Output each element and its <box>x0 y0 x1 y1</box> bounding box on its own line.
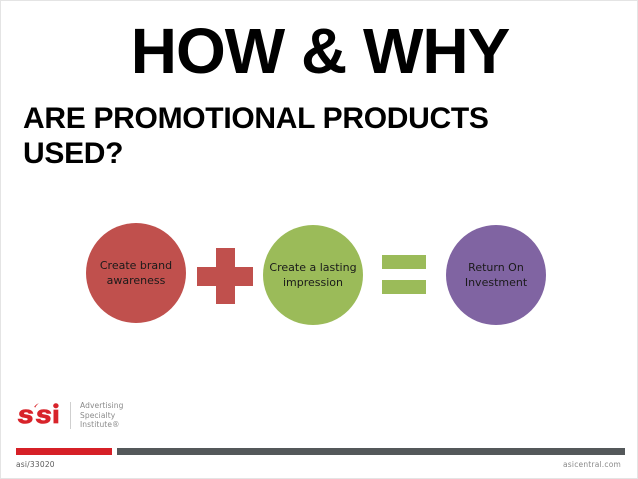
logo-word-line-3: Institute® <box>80 420 124 430</box>
asi-logo-lockup: Advertising Specialty Institute® <box>16 401 124 430</box>
equation-row: Create brand awareness Create a lasting … <box>1 223 638 335</box>
asi-member-number: asi/33020 <box>16 460 55 469</box>
logo-word-line-1: Advertising <box>80 401 124 411</box>
footer-accent-bar-gray <box>117 448 625 455</box>
circle-label: Create brand awareness <box>92 258 180 288</box>
equals-icon-bottom-bar <box>382 280 426 294</box>
slide-footer: Advertising Specialty Institute® EVERY S… <box>1 393 638 479</box>
circle-return-on-investment: Return On Investment <box>446 225 546 325</box>
circle-label: Return On Investment <box>452 260 540 290</box>
page-title: HOW & WHY <box>1 19 638 83</box>
circle-create-brand-awareness: Create brand awareness <box>86 223 186 323</box>
footer-accent-bar-red <box>16 448 112 455</box>
plus-icon-vertical-bar <box>216 248 235 304</box>
logo-word-line-2: Specialty <box>80 411 124 421</box>
logo-divider <box>70 402 71 429</box>
plus-icon <box>197 248 253 304</box>
footer-website: asicentral.com <box>563 460 621 469</box>
circle-label: Create a lasting impression <box>269 260 357 290</box>
equals-icon <box>382 255 426 297</box>
equals-icon-top-bar <box>382 255 426 269</box>
circle-create-lasting-impression: Create a lasting impression <box>263 225 363 325</box>
headline-block: HOW & WHY <box>1 19 638 83</box>
asi-logo-icon <box>16 402 62 428</box>
page-subtitle: ARE PROMOTIONAL PRODUCTS USED? <box>23 101 583 171</box>
slide-canvas: HOW & WHY ARE PROMOTIONAL PRODUCTS USED?… <box>0 0 638 479</box>
asi-logo-wordmark: Advertising Specialty Institute® <box>80 401 124 430</box>
